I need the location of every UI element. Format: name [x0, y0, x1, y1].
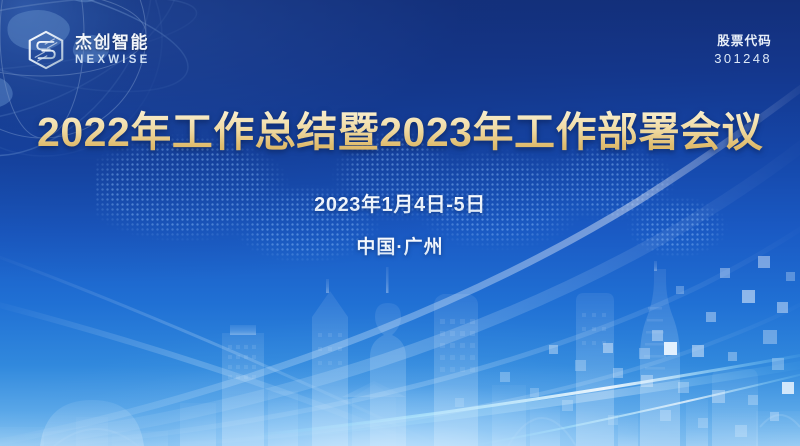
- event-location: 中国·广州: [0, 232, 800, 259]
- event-date: 2023年1月4日-5日: [0, 188, 800, 217]
- page-title: 2022年工作总结暨2023年工作部署会议: [0, 98, 800, 158]
- city-skyline-icon: [0, 261, 800, 446]
- stock-code-block: 股票代码 301248: [714, 33, 772, 67]
- brand-name-cn: 杰创智能: [75, 34, 150, 51]
- stock-code-value: 301248: [714, 50, 772, 67]
- nexwise-cube-logo-icon: [26, 30, 66, 70]
- conference-banner: 杰创智能 NEXWISE 股票代码 301248 2022年工作总结暨2023年…: [0, 0, 800, 446]
- brand-name-en: NEXWISE: [75, 55, 150, 67]
- stock-code-label: 股票代码: [714, 33, 772, 50]
- brand-logo[interactable]: 杰创智能 NEXWISE: [26, 30, 150, 70]
